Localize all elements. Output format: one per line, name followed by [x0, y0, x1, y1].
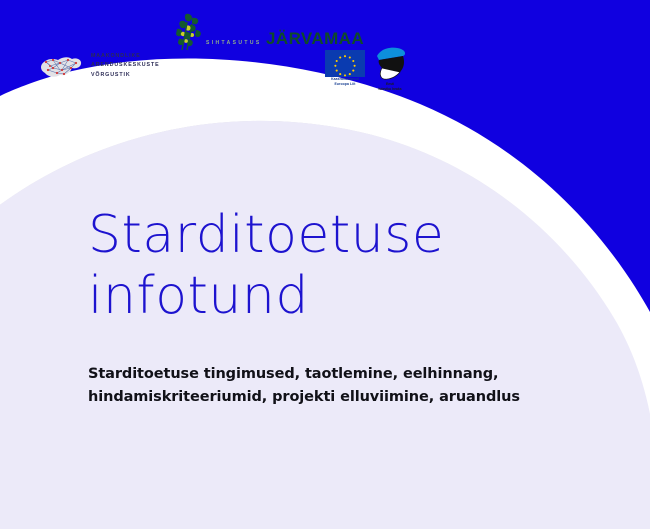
eu-flag-icon: [325, 50, 365, 77]
estonian-flag-swoosh-icon: [373, 46, 407, 82]
slide-subtitle: Starditoetuse tingimused, taotlemine, ee…: [88, 363, 558, 409]
maakondlike-arenduskeskuste-vorgustik-logo: MAAKONDLIKE ARENDUSKESKUSTE VÕRGUSTIK: [38, 48, 160, 84]
estonia-network-map-icon: [38, 48, 84, 84]
european-union-emblem: Kaasrahastanud Euroopa Liit: [325, 50, 365, 87]
mak-logo-line1: MAAKONDLIKE: [91, 52, 160, 61]
eu-emblem-caption: Kaasrahastanud Euroopa Liit: [325, 77, 365, 87]
mak-logo-line3: VÕRGUSTIK: [91, 71, 160, 80]
slide-title: Starditoetuse infotund: [88, 205, 558, 328]
jarvamaa-eyebrow: SIHTASUTUS: [206, 40, 262, 46]
jarvamaa-wordmark: JÄRVAMAA: [266, 29, 364, 48]
estonia-emblem-caption: Eesti tuleviku heaks: [373, 82, 407, 92]
slide-content: Starditoetuse infotund Starditoetuse tin…: [88, 205, 558, 409]
logo-row: MAAKONDLIKE ARENDUSKESKUSTE VÕRGUSTIK: [0, 0, 650, 110]
jarvamaa-logo-text: SIHTASUTUS JÄRVAMAA: [206, 30, 364, 49]
eu-caption-line2: Euroopa Liit: [325, 82, 365, 87]
mak-logo-line2: ARENDUSKESKUSTE: [91, 61, 160, 70]
mak-logo-text: MAAKONDLIKE ARENDUSKESKUSTE VÕRGUSTIK: [91, 52, 160, 80]
presentation-slide: MAAKONDLIKE ARENDUSKESKUSTE VÕRGUSTIK: [0, 0, 650, 529]
eesti-tuleviku-heaks-emblem: Eesti tuleviku heaks: [373, 46, 407, 92]
estonia-caption-line2: tuleviku heaks: [373, 87, 407, 92]
sihtasutus-jarvamaa-logo: SIHTASUTUS JÄRVAMAA: [168, 10, 364, 54]
